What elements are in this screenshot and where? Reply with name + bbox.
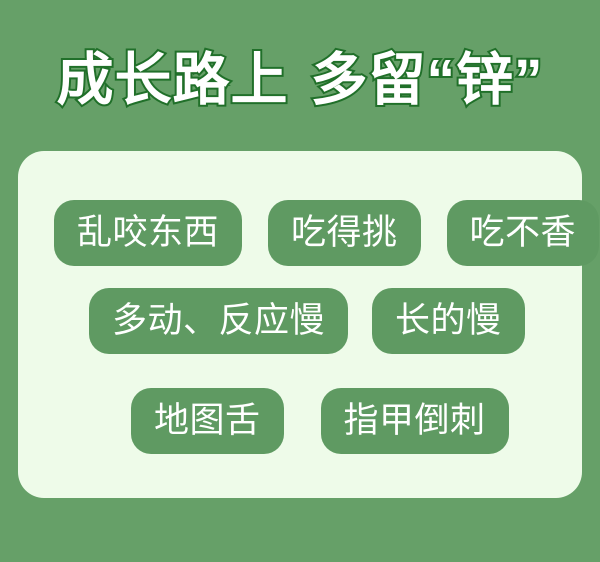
headline-part-1: 成长路上 bbox=[57, 45, 289, 115]
symptom-pill-duodongfanyingman[interactable]: 多动、反应慢 bbox=[89, 288, 348, 354]
symptom-pill-chibuxiang[interactable]: 吃不香 bbox=[447, 200, 600, 266]
headline-banner: 成长路上 多留“锌” bbox=[0, 42, 600, 118]
symptom-pill-dituoshe[interactable]: 地图舌 bbox=[131, 388, 284, 454]
headline-part-2: 多留“锌” bbox=[311, 45, 544, 115]
symptom-pill-chidetiao[interactable]: 吃得挑 bbox=[268, 200, 421, 266]
symptom-row-1: 乱咬东西 吃得挑 吃不香 bbox=[18, 200, 600, 266]
symptom-pill-zhijiadaoci[interactable]: 指甲倒刺 bbox=[321, 388, 509, 454]
symptom-pill-luanyaodongxi[interactable]: 乱咬东西 bbox=[54, 200, 242, 266]
symptom-row-3: 地图舌 指甲倒刺 bbox=[18, 388, 600, 454]
symptom-row-2: 多动、反应慢 长的慢 bbox=[18, 288, 600, 354]
symptom-pill-zhangdeman[interactable]: 长的慢 bbox=[372, 288, 525, 354]
symptom-card: 乱咬东西 吃得挑 吃不香 多动、反应慢 长的慢 地图舌 指甲倒刺 bbox=[18, 151, 582, 498]
poster-root: 成长路上 多留“锌” 乱咬东西 吃得挑 吃不香 多动、反应慢 长的慢 地图舌 指… bbox=[0, 0, 600, 562]
